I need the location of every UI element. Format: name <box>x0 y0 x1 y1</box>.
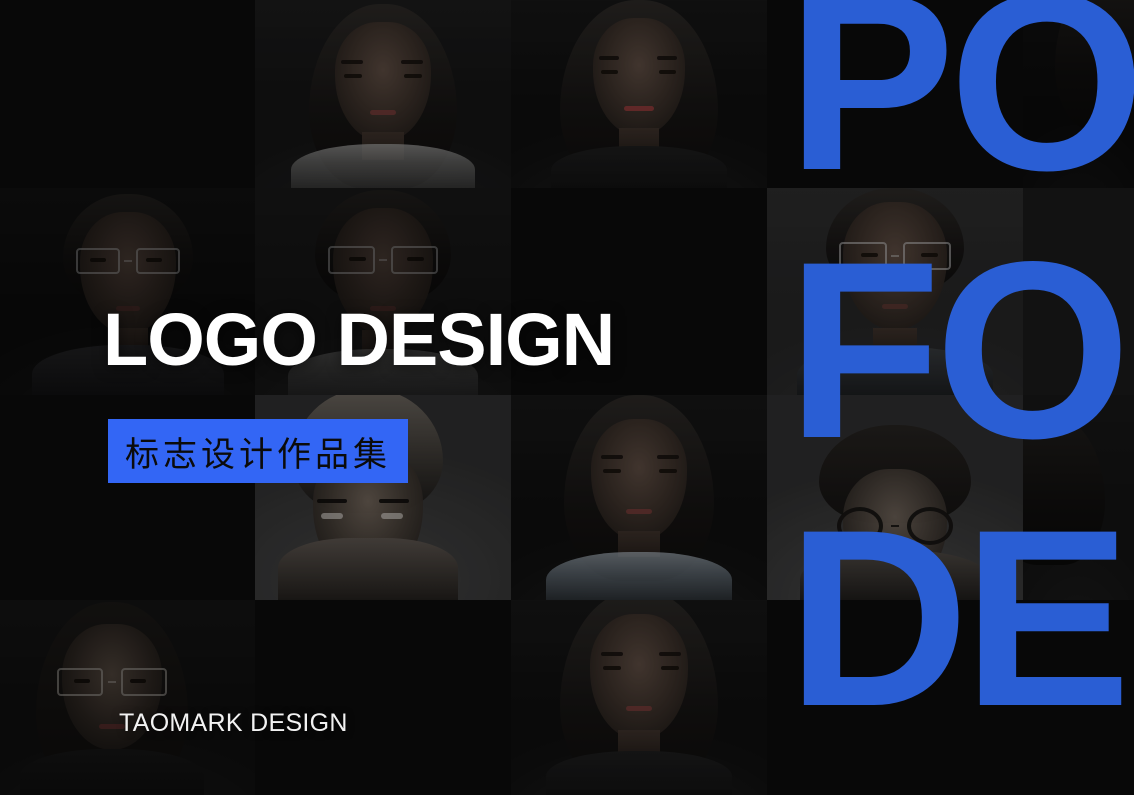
grid-cell-r1c2 <box>255 0 511 188</box>
grid-cell-r2c5 <box>1023 188 1134 395</box>
grid-cell-r3c5 <box>1023 395 1134 600</box>
grid-cell-r1c4 <box>767 0 1023 188</box>
grid-cell-r4c3 <box>511 600 767 795</box>
grid-cell-r1c3 <box>511 0 767 188</box>
grid-cell-r1c5 <box>1023 0 1134 188</box>
grid-cell-r2c4 <box>767 188 1023 395</box>
portrait-photo-grid <box>0 0 1134 795</box>
grid-cell-r4c1 <box>0 600 255 795</box>
grid-cell-r4c5 <box>1023 600 1134 795</box>
grid-cell-r3c3 <box>511 395 767 600</box>
brand-label: TAOMARK DESIGN <box>119 709 348 738</box>
logo-design-poster: PO FO DE LOGO DESIGN 标志设计作品集 TAOMARK DES… <box>0 0 1134 795</box>
subtitle-badge: 标志设计作品集 <box>108 419 408 483</box>
grid-cell-r1c1 <box>0 0 255 188</box>
grid-cell-r3c4 <box>767 395 1023 600</box>
grid-cell-r4c4 <box>767 600 1023 795</box>
page-title: LOGO DESIGN <box>103 303 614 377</box>
grid-cell-r4c2 <box>255 600 511 795</box>
